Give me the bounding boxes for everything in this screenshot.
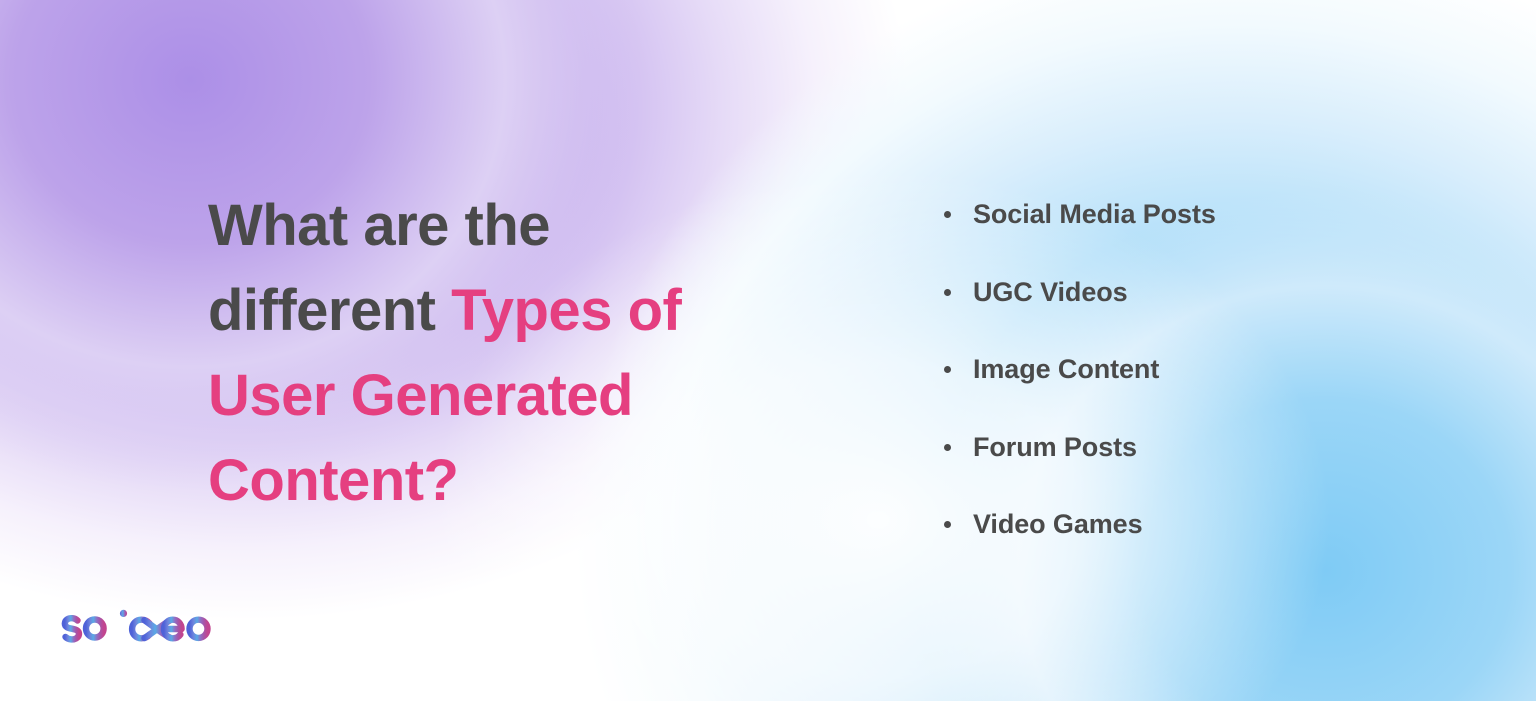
list-item-label: Social Media Posts (973, 199, 1216, 230)
list-item-label: Video Games (973, 509, 1142, 540)
spliced-logo (56, 598, 232, 654)
page-title: What are the different Types of User Gen… (208, 183, 788, 523)
list-item: Image Content (944, 331, 1424, 409)
list-item: Forum Posts (944, 409, 1424, 487)
bullet-dot-icon (944, 521, 951, 528)
list-item: Social Media Posts (944, 176, 1424, 254)
list-item: UGC Videos (944, 254, 1424, 332)
bullet-dot-icon (944, 366, 951, 373)
bullet-dot-icon (944, 444, 951, 451)
list-item-label: Image Content (973, 354, 1159, 385)
slide-content: What are the different Types of User Gen… (0, 0, 1536, 701)
list-item-label: Forum Posts (973, 432, 1137, 463)
bullet-dot-icon (944, 289, 951, 296)
slide-canvas: What are the different Types of User Gen… (0, 0, 1536, 701)
bullet-dot-icon (944, 211, 951, 218)
list-item: Video Games (944, 486, 1424, 564)
list-item-label: UGC Videos (973, 277, 1128, 308)
content-types-list: Social Media Posts UGC Videos Image Cont… (944, 176, 1424, 564)
